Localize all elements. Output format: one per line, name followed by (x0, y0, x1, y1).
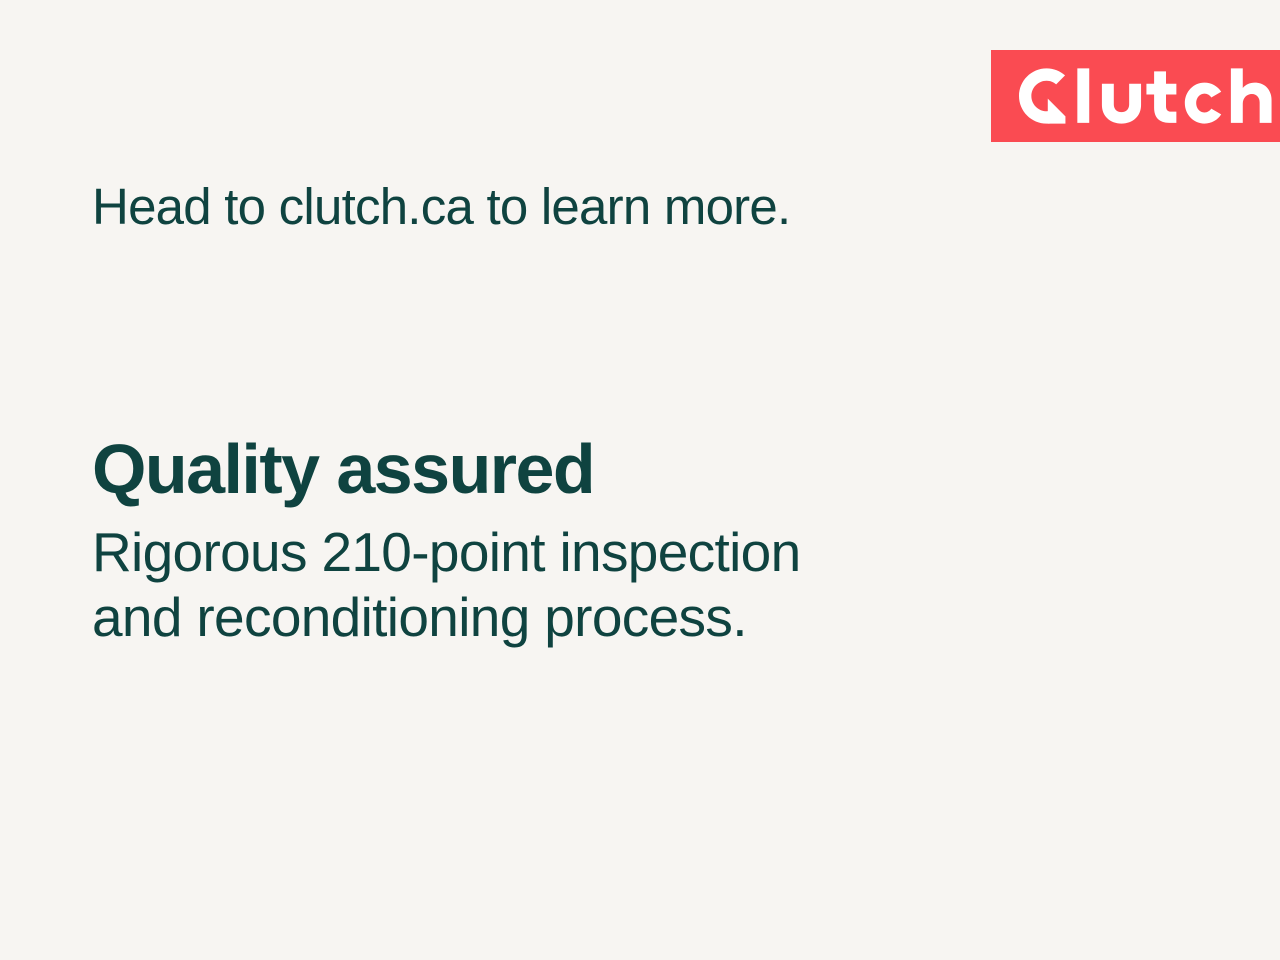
message-title: Quality assured (92, 432, 1072, 506)
message-body-line-2: and reconditioning process. (92, 585, 1072, 650)
message-body-line-1: Rigorous 210-point inspection (92, 520, 1072, 585)
promo-slide: Head to clutch.ca to learn more. Quality… (0, 0, 1280, 960)
clutch-wordmark-icon (1019, 68, 1280, 124)
message-block: Quality assured Rigorous 210-point inspe… (92, 432, 1072, 650)
message-body: Rigorous 210-point inspection and recond… (92, 520, 1072, 650)
lead-line: Head to clutch.ca to learn more. (92, 178, 790, 237)
brand-logo-block (991, 50, 1280, 142)
